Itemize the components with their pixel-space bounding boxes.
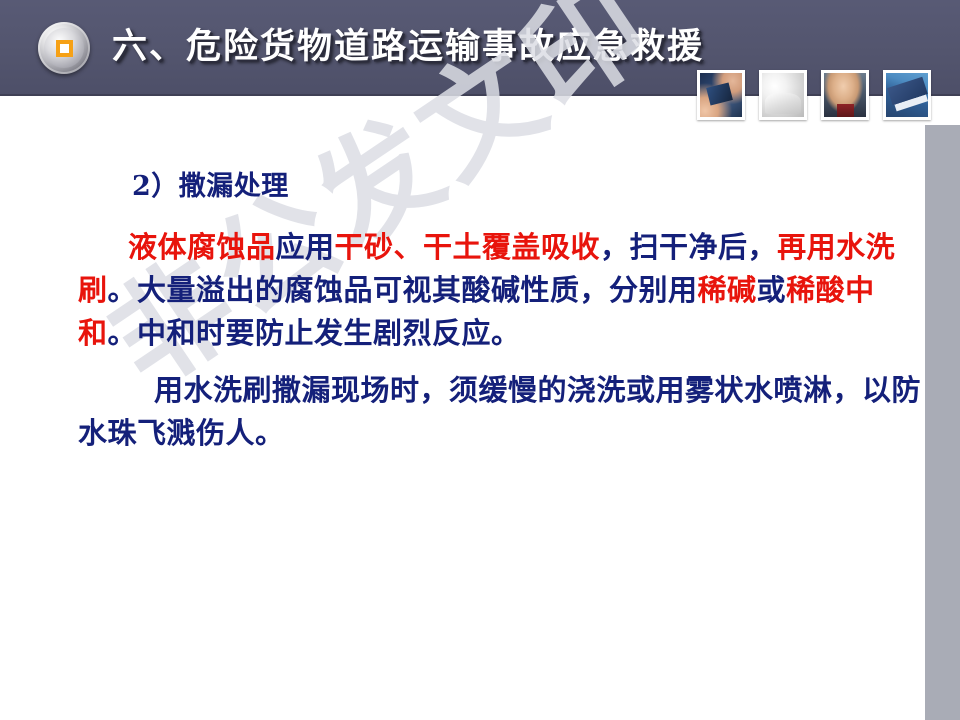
run-text: 液体腐蚀品 xyxy=(128,230,276,264)
photo-fill xyxy=(762,73,804,117)
run-text: 。中和时要防止发生剧烈反应。 xyxy=(108,316,521,350)
icon-square-glyph xyxy=(56,40,73,57)
businessman-portrait-photo xyxy=(821,70,869,120)
photo-fill xyxy=(886,73,928,117)
run-text: 应用 xyxy=(276,230,335,264)
icon-inner-ring xyxy=(44,28,84,68)
body-heading: 2）撒漏处理 xyxy=(0,165,960,208)
run-text: ，扫干净后， xyxy=(600,230,777,264)
header-photo-strip xyxy=(697,70,931,120)
slide-body: 2）撒漏处理 液体腐蚀品应用干砂、干土覆盖吸收，扫干净后，再用水洗刷。大量溢出的… xyxy=(0,165,960,455)
run-text: 用水洗刷撒漏现场时，须缓慢的浇洗或用雾状水喷淋，以防水珠飞溅伤人。 xyxy=(78,373,921,450)
presentation-slide: 六、危险货物道路运输事故应急救援 非公发文印 2）撒漏处理 液体腐蚀品应用干砂、… xyxy=(0,0,960,720)
blue-folders-photo xyxy=(883,70,931,120)
run-text: 稀碱 xyxy=(698,273,757,307)
rounded-square-bullet-icon xyxy=(38,22,90,74)
run-text: 。大量溢出的腐蚀品可视其酸碱性质，分别用 xyxy=(108,273,698,307)
body-paragraph-1: 液体腐蚀品应用干砂、干土覆盖吸收，扫干净后，再用水洗刷。大量溢出的腐蚀品可视其酸… xyxy=(0,226,960,355)
page-title: 六、危险货物道路运输事故应急救援 xyxy=(112,18,704,69)
body-paragraph-2: 用水洗刷撒漏现场时，须缓慢的浇洗或用雾状水喷淋，以防水珠飞溅伤人。 xyxy=(0,369,960,455)
white-object-photo xyxy=(759,70,807,120)
hand-with-tablet-photo xyxy=(697,70,745,120)
run-text: 或 xyxy=(757,273,787,307)
photo-fill xyxy=(700,73,742,117)
photo-fill xyxy=(824,73,866,117)
run-text: 干砂、干土覆盖吸收 xyxy=(335,230,601,264)
